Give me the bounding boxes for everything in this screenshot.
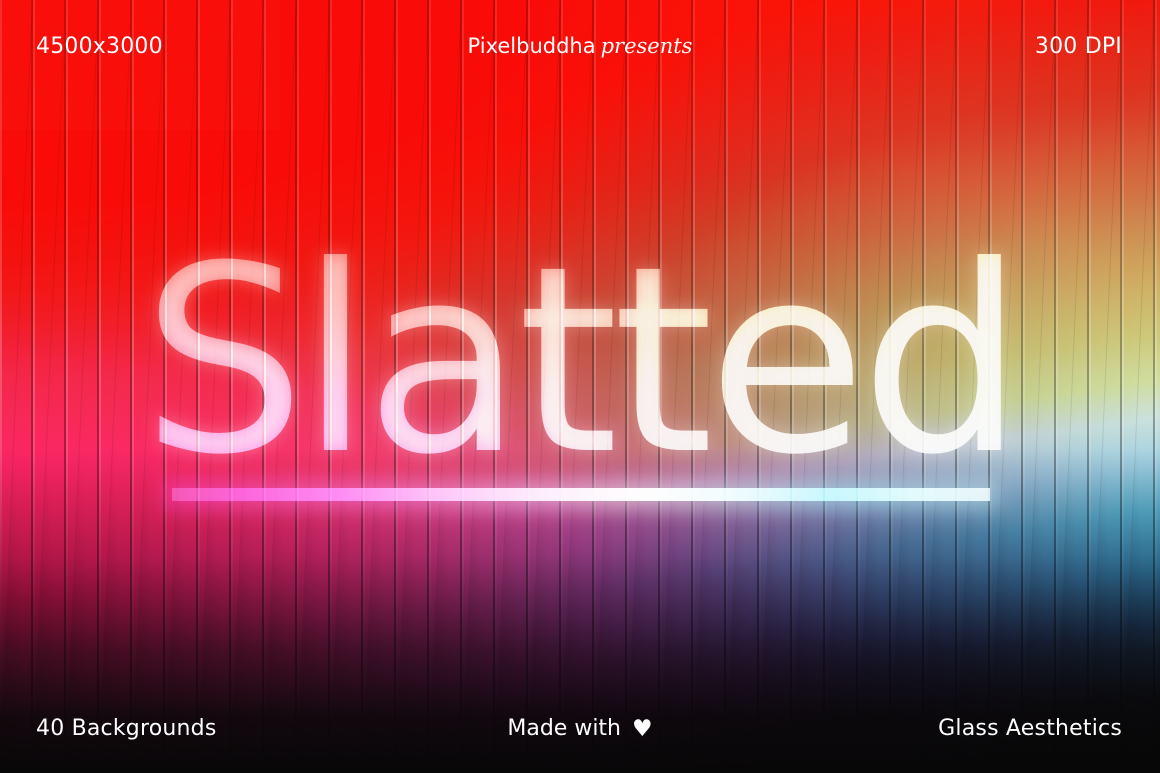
brand-presents: presents [601,34,693,58]
made-with-label: Made with [507,716,621,741]
made-with-credit: Made with ♥ [507,716,652,741]
aesthetics-label: Glass Aesthetics [938,716,1122,741]
brand-name: Pixelbuddha [468,34,596,58]
heart-icon: ♥ [632,718,653,741]
dimensions-label: 4500x3000 [36,34,163,59]
brand-credit: Pixelbuddhapresents [468,34,693,58]
background-vignette-bottom [0,0,1160,773]
poster-canvas: Slatted Slatted Slatted 4500x3000 Pixelb… [0,0,1160,773]
backgrounds-count-label: 40 Backgrounds [36,716,217,741]
dpi-label: 300 DPI [1035,34,1122,59]
